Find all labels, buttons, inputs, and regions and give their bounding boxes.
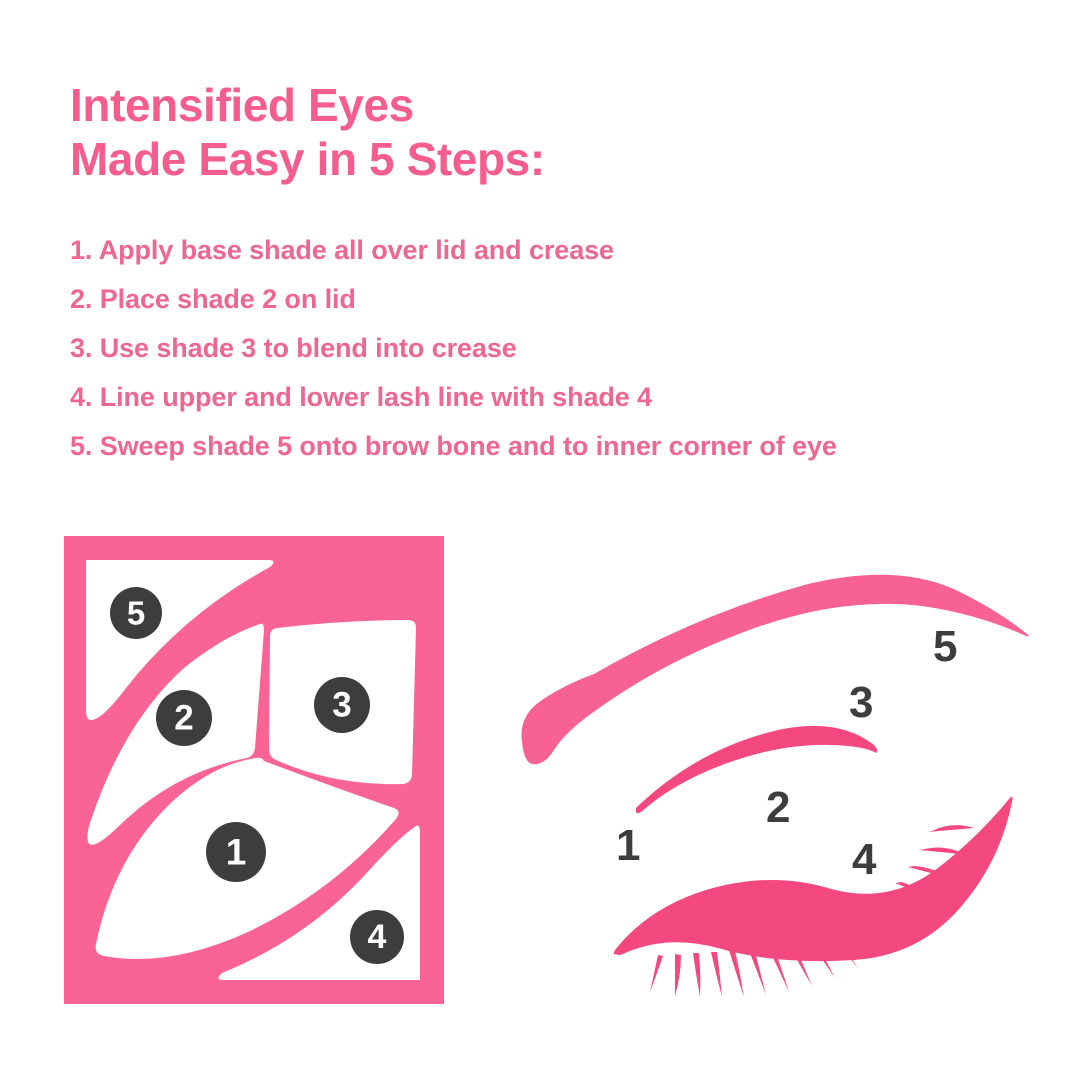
palette-badge-3: 3 bbox=[314, 677, 370, 733]
crease-line bbox=[636, 726, 877, 813]
step-item-4: 4. Line upper and lower lash line with s… bbox=[70, 373, 1060, 422]
upper-lash-line bbox=[614, 797, 1013, 962]
poster-canvas: Intensified Eyes Made Easy in 5 Steps: 1… bbox=[0, 0, 1090, 1090]
step-item-5: 5. Sweep shade 5 onto brow bone and to i… bbox=[70, 422, 1060, 471]
page-title-line-1: Intensified Eyes bbox=[70, 78, 970, 132]
palette-badge-4: 4 bbox=[350, 910, 404, 964]
page-title-line-2: Made Easy in 5 Steps: bbox=[70, 132, 970, 186]
eye-number-1: 1 bbox=[616, 821, 640, 870]
eyeshadow-palette-diagram: 5 2 3 1 4 bbox=[64, 536, 444, 1004]
steps-list: 1. Apply base shade all over lid and cre… bbox=[70, 226, 1060, 471]
palette-badge-5-label: 5 bbox=[127, 595, 145, 632]
step-item-1: 1. Apply base shade all over lid and cre… bbox=[70, 226, 1060, 275]
palette-badge-2: 2 bbox=[156, 690, 212, 746]
page-title: Intensified Eyes Made Easy in 5 Steps: bbox=[70, 78, 970, 187]
palette-badge-2-label: 2 bbox=[174, 699, 193, 738]
palette-badge-4-label: 4 bbox=[368, 918, 387, 956]
eye-number-3: 3 bbox=[849, 678, 873, 727]
eye-makeup-diagram: 5 3 2 1 4 bbox=[508, 556, 1038, 1006]
step-item-2: 2. Place shade 2 on lid bbox=[70, 275, 1060, 324]
palette-badge-1: 1 bbox=[206, 822, 266, 882]
eye-number-5: 5 bbox=[933, 622, 957, 671]
palette-badge-3-label: 3 bbox=[332, 686, 351, 725]
eye-number-2: 2 bbox=[766, 783, 790, 832]
palette-badge-5: 5 bbox=[110, 587, 162, 639]
eye-number-4: 4 bbox=[852, 835, 877, 884]
palette-badge-1-label: 1 bbox=[226, 832, 247, 873]
step-item-3: 3. Use shade 3 to blend into crease bbox=[70, 324, 1060, 373]
